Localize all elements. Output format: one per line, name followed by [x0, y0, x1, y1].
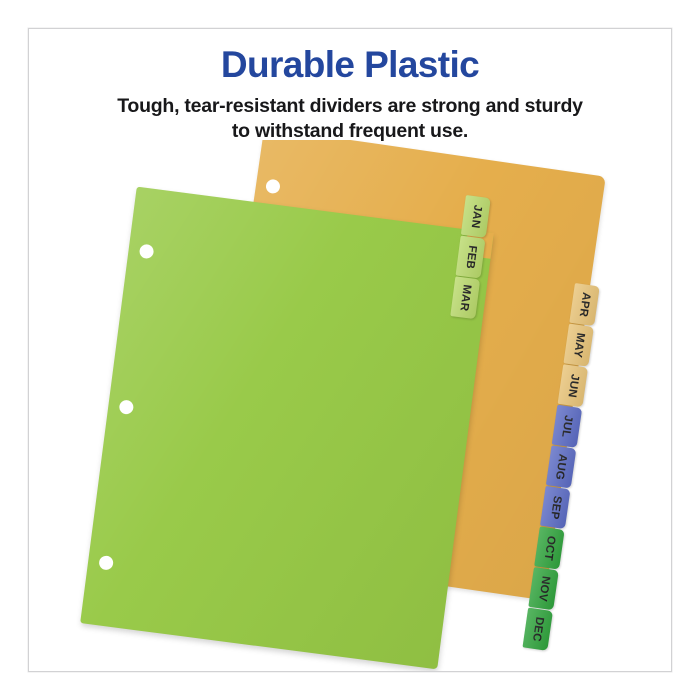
tab-jan[interactable]: JAN [461, 195, 491, 238]
tab-label: MAR [458, 284, 473, 312]
punch-hole [139, 244, 155, 260]
tab-aug[interactable]: AUG [546, 445, 576, 488]
tab-jul[interactable]: JUL [552, 405, 582, 448]
tab-label: SEP [548, 495, 563, 520]
tab-dec[interactable]: DEC [523, 608, 553, 651]
tab-label: JUN [565, 373, 580, 398]
tab-label: DEC [530, 616, 545, 642]
tab-label: OCT [542, 535, 557, 561]
tab-label: AUG [553, 453, 569, 481]
tab-label: APR [577, 291, 592, 317]
green-divider-sheet [80, 187, 494, 670]
tab-label: MAY [571, 332, 586, 359]
tab-label: FEB [463, 245, 478, 270]
product-photo: JAN FEB MAR APR MAY JUN JUL AU [29, 140, 671, 671]
tab-label: JAN [468, 204, 483, 229]
tab-jun[interactable]: JUN [558, 364, 588, 407]
tab-sep[interactable]: SEP [540, 486, 570, 529]
tab-label: NOV [536, 575, 552, 602]
punch-hole [98, 555, 114, 571]
tab-mar[interactable]: MAR [450, 276, 480, 319]
tab-feb[interactable]: FEB [456, 236, 486, 279]
tab-oct[interactable]: OCT [534, 526, 564, 569]
punch-hole [119, 399, 135, 415]
tab-nov[interactable]: NOV [528, 567, 558, 610]
tab-may[interactable]: MAY [563, 324, 593, 367]
tab-label: JUL [559, 414, 574, 438]
punch-hole [265, 178, 281, 194]
tab-apr[interactable]: APR [569, 283, 599, 326]
product-feature-image: Durable Plastic Tough, tear-resistant di… [0, 0, 700, 700]
